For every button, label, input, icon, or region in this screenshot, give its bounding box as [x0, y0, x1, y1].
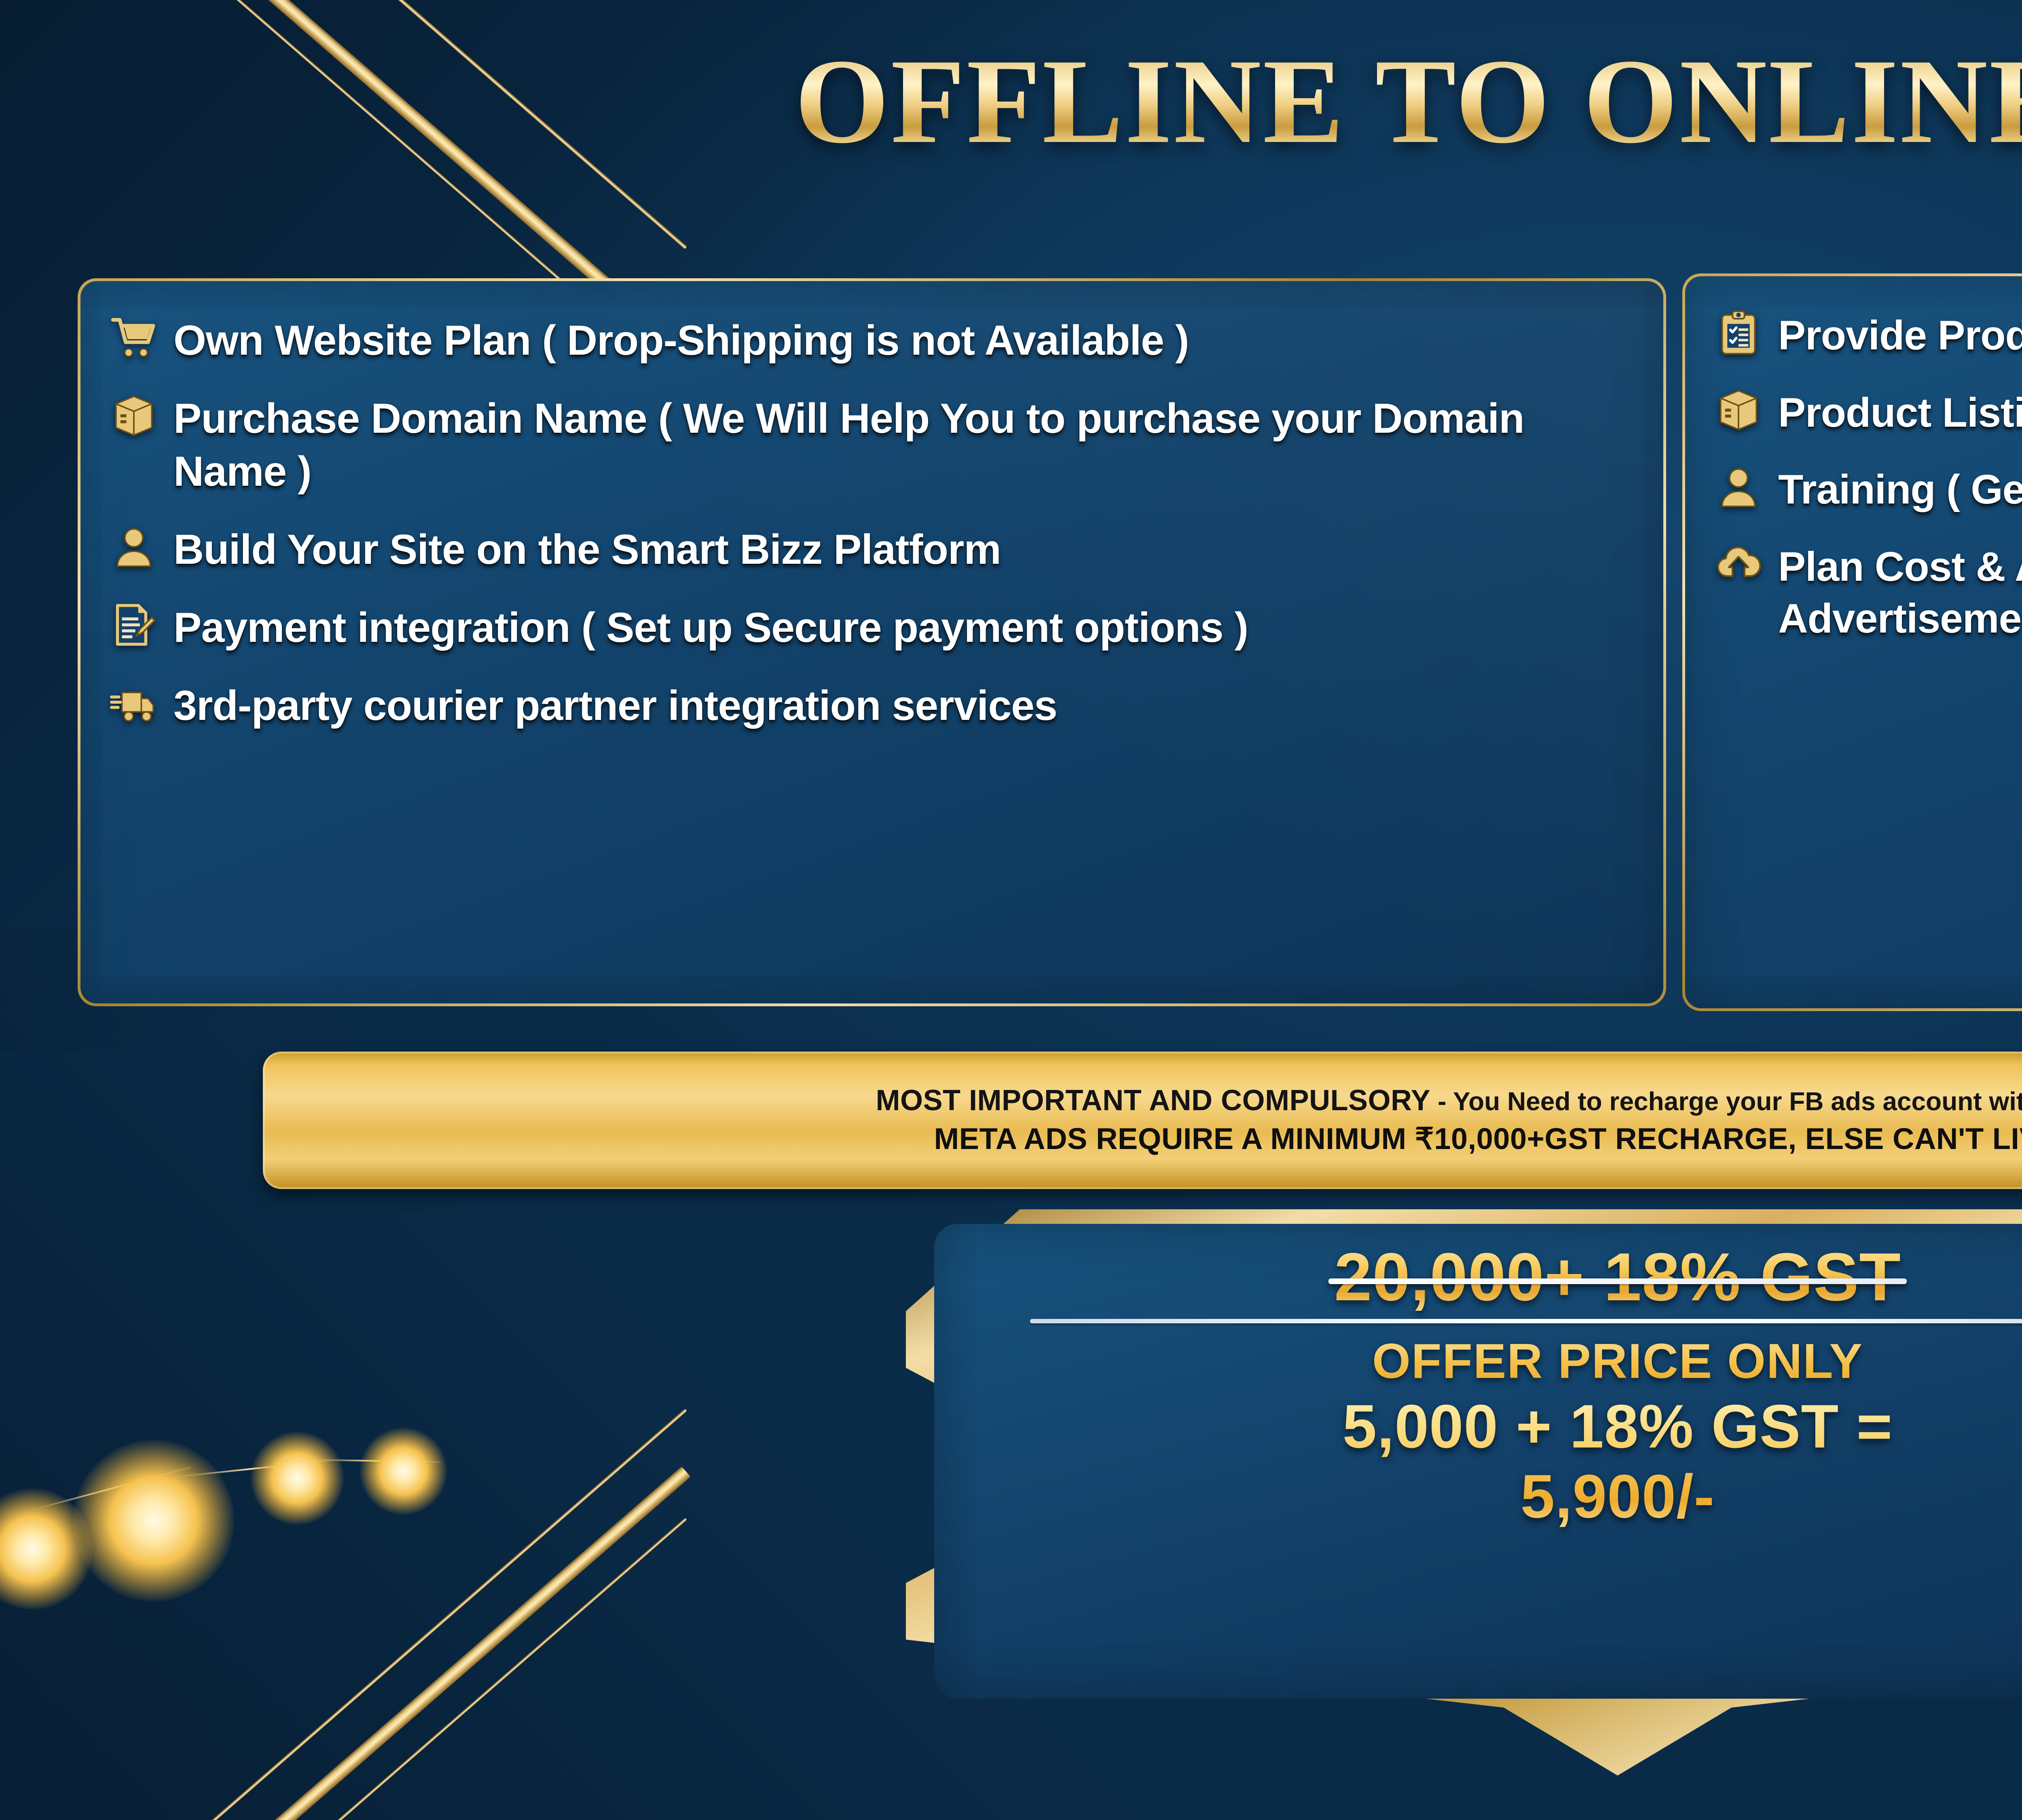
banner-line-1-strong: MOST IMPORTANT AND COMPULSORY [876, 1084, 1431, 1117]
package-box-icon [106, 387, 162, 444]
list-item: Purchase Domain Name ( We Will Help You … [106, 391, 1639, 498]
original-price-text: 20,000+ 18% GST [1334, 1239, 1901, 1315]
list-item: Plan Cost & Ads ( 5,000+ tax ( Plan Fee … [1710, 539, 2022, 645]
offer-price-label: OFFER PRICE ONLY [1372, 1334, 1863, 1388]
list-item-label: Plan Cost & Ads ( 5,000+ tax ( Plan Fee … [1778, 539, 2022, 645]
list-item-label: Training ( Get training for adding more … [1778, 462, 2022, 516]
package-box-icon [1710, 382, 1767, 438]
offer-price-value: 5,000 + 18% GST = 5,900/- [1343, 1392, 1893, 1532]
list-item-label: Payment integration ( Set up Secure paym… [173, 600, 1248, 654]
compulsory-notice-banner: MOST IMPORTANT AND COMPULSORY - You Need… [263, 1052, 2022, 1189]
right-feature-list: Provide Product Info ( Client provides p… [1685, 276, 2022, 645]
list-item: Own Website Plan ( Drop-Shipping is not … [106, 313, 1639, 367]
list-item: 3rd-party courier partner integration se… [106, 678, 1639, 732]
offer-price-line-1: 5,000 + 18% GST = [1343, 1392, 1893, 1461]
list-item: Provide Product Info ( Client provides p… [1710, 308, 2022, 362]
user-avatar-icon [1710, 459, 1767, 515]
strikethrough-line [1328, 1278, 1907, 1284]
price-badge: 20,000+ 18% GST OFFER PRICE ONLY 5,000 +… [906, 1209, 2022, 1776]
banner-line-1-rest: - You Need to recharge your FB ads accou… [1430, 1087, 2022, 1116]
right-feature-card: Provide Product Info ( Client provides p… [1682, 273, 2022, 1011]
left-feature-card: Own Website Plan ( Drop-Shipping is not … [78, 278, 1666, 1006]
list-item: Training ( Get training for adding more … [1710, 462, 2022, 516]
list-item-label: Own Website Plan ( Drop-Shipping is not … [173, 313, 1189, 367]
list-item-label: Provide Product Info ( Client provides p… [1778, 308, 2022, 362]
delivery-truck-icon [106, 675, 162, 731]
original-price: 20,000+ 18% GST [1334, 1242, 1901, 1312]
list-item-label: 3rd-party courier partner integration se… [173, 678, 1057, 732]
document-edit-icon [106, 597, 162, 653]
list-item-label: Build Your Site on the Smart Bizz Platfo… [173, 522, 1001, 576]
left-feature-list: Own Website Plan ( Drop-Shipping is not … [80, 281, 1663, 732]
banner-line-2: META ADS REQUIRE A MINIMUM ₹10,000+GST R… [934, 1122, 2022, 1156]
light-string-decoration [0, 1367, 526, 1594]
user-avatar-icon [106, 518, 162, 575]
list-item-label: Purchase Domain Name ( We Will Help You … [173, 391, 1639, 498]
banner-line-1: MOST IMPORTANT AND COMPULSORY - You Need… [876, 1084, 2022, 1117]
clipboard-checklist-icon [1710, 305, 1767, 361]
offer-price-line-2: 5,900/- [1521, 1462, 1715, 1531]
list-item: Payment integration ( Set up Secure paym… [106, 600, 1639, 654]
list-item-label: Product Listing ( We will List 20 produc… [1778, 385, 2022, 439]
price-divider [1030, 1319, 2022, 1323]
list-item: Build Your Site on the Smart Bizz Platfo… [106, 522, 1639, 576]
cloud-upload-icon [1710, 536, 1767, 593]
price-badge-inner: 20,000+ 18% GST OFFER PRICE ONLY 5,000 +… [934, 1224, 2022, 1699]
list-item: Product Listing ( We will List 20 produc… [1710, 385, 2022, 439]
page-title: OFFLINE TO ONLINE PLAN [0, 32, 2022, 171]
shopping-cart-icon [106, 309, 162, 366]
